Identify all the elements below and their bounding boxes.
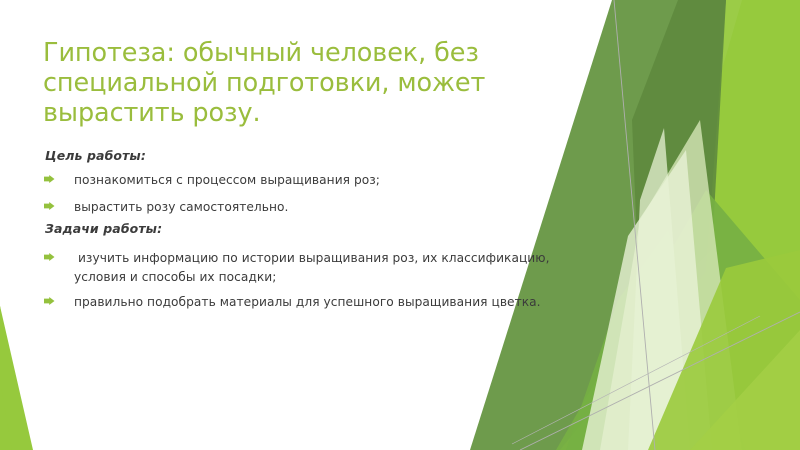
arrow-right-bullet-icon xyxy=(44,293,74,305)
tasks-section-label: Задачи работы: xyxy=(45,221,162,236)
list-item-text: правильно подобрать материалы для успешн… xyxy=(74,293,604,312)
arrow-right-bullet-icon xyxy=(44,198,74,210)
list-item: изучить информацию по истории выращивани… xyxy=(44,249,604,287)
list-item-text: вырастить розу самостоятельно. xyxy=(74,198,604,217)
presentation-slide: Гипотеза: обычный человек, без специальн… xyxy=(0,0,800,450)
list-item: вырастить розу самостоятельно. xyxy=(44,198,604,217)
arrow-right-bullet-icon xyxy=(44,171,74,183)
slide-content: Гипотеза: обычный человек, без специальн… xyxy=(0,0,800,450)
arrow-right-bullet-icon xyxy=(44,249,74,261)
slide-title: Гипотеза: обычный человек, без специальн… xyxy=(43,38,513,128)
list-item-text: познакомиться с процессом выращивания ро… xyxy=(74,171,604,190)
list-item-text: изучить информацию по истории выращивани… xyxy=(74,249,604,287)
list-item: познакомиться с процессом выращивания ро… xyxy=(44,171,604,190)
goal-section-label: Цель работы: xyxy=(45,148,146,163)
list-item: правильно подобрать материалы для успешн… xyxy=(44,293,604,312)
